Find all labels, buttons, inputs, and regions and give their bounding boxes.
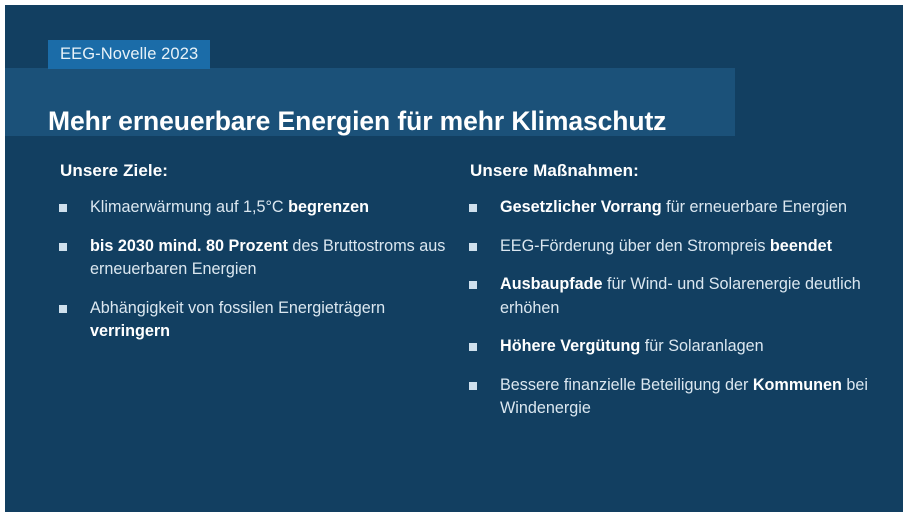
bullet-text: Höhere Vergütung für Solaranlagen	[500, 337, 764, 355]
bullet-run: für erneuerbare Energien	[662, 198, 847, 216]
eeg-novelle-badge: EEG-Novelle 2023	[48, 40, 210, 69]
bullet-emphasis: Ausbaupfade	[500, 275, 603, 293]
bullet-item: EEG-Förderung über den Strompreis beende…	[458, 235, 888, 259]
bullet-text: Bessere finanzielle Beteiligung der Komm…	[500, 376, 868, 418]
bullet-list-measures: Gesetzlicher Vorrang für erneuerbare Ene…	[458, 196, 888, 421]
bullet-text: EEG-Förderung über den Strompreis beende…	[500, 237, 832, 255]
column-goals: Unsere Ziele: Klimaerwärmung auf 1,5°C b…	[48, 160, 463, 344]
square-bullet-icon	[59, 204, 67, 212]
column-heading-measures: Unsere Maßnahmen:	[470, 160, 888, 182]
square-bullet-icon	[469, 343, 477, 351]
bullet-emphasis: Gesetzlicher Vorrang	[500, 198, 662, 216]
bullet-run: Bessere finanzielle Beteiligung der	[500, 376, 753, 394]
bullet-item: Abhängigkeit von fossilen Energieträgern…	[48, 297, 463, 344]
bullet-run: Abhängigkeit von fossilen Energieträgern	[90, 299, 385, 317]
bullet-text: Ausbaupfade für Wind- und Solarenergie d…	[500, 275, 861, 317]
square-bullet-icon	[469, 204, 477, 212]
infographic-slide: EEG-Novelle 2023 Mehr erneuerbare Energi…	[5, 5, 903, 512]
bullet-text: bis 2030 mind. 80 Prozent des Bruttostro…	[90, 237, 445, 279]
bullet-text: Abhängigkeit von fossilen Energieträgern…	[90, 299, 385, 341]
square-bullet-icon	[469, 243, 477, 251]
bullet-emphasis: beendet	[770, 237, 832, 255]
page-title: Mehr erneuerbare Energien für mehr Klima…	[48, 104, 666, 138]
square-bullet-icon	[469, 382, 477, 390]
bullet-item: Gesetzlicher Vorrang für erneuerbare Ene…	[458, 196, 888, 220]
bullet-text: Gesetzlicher Vorrang für erneuerbare Ene…	[500, 198, 847, 216]
bullet-item: Bessere finanzielle Beteiligung der Komm…	[458, 374, 888, 421]
bullet-item: bis 2030 mind. 80 Prozent des Bruttostro…	[48, 235, 463, 282]
bullet-emphasis: verringern	[90, 322, 170, 340]
square-bullet-icon	[59, 243, 67, 251]
bullet-text: Klimaerwärmung auf 1,5°C begrenzen	[90, 198, 369, 216]
bullet-list-goals: Klimaerwärmung auf 1,5°C begrenzenbis 20…	[48, 196, 463, 344]
bullet-item: Ausbaupfade für Wind- und Solarenergie d…	[458, 273, 888, 320]
bullet-run: Klimaerwärmung auf 1,5°C	[90, 198, 288, 216]
bullet-item: Klimaerwärmung auf 1,5°C begrenzen	[48, 196, 463, 220]
bullet-emphasis: Kommunen	[753, 376, 842, 394]
bullet-emphasis: begrenzen	[288, 198, 369, 216]
bullet-run: EEG-Förderung über den Strompreis	[500, 237, 770, 255]
bullet-item: Höhere Vergütung für Solaranlagen	[458, 335, 888, 359]
bullet-emphasis: Höhere Vergütung	[500, 337, 640, 355]
square-bullet-icon	[59, 305, 67, 313]
column-heading-goals: Unsere Ziele:	[60, 160, 463, 182]
bullet-run: für Solaranlagen	[640, 337, 763, 355]
bullet-emphasis: bis 2030 mind. 80 Prozent	[90, 237, 288, 255]
square-bullet-icon	[469, 281, 477, 289]
column-measures: Unsere Maßnahmen: Gesetzlicher Vorrang f…	[458, 160, 888, 421]
